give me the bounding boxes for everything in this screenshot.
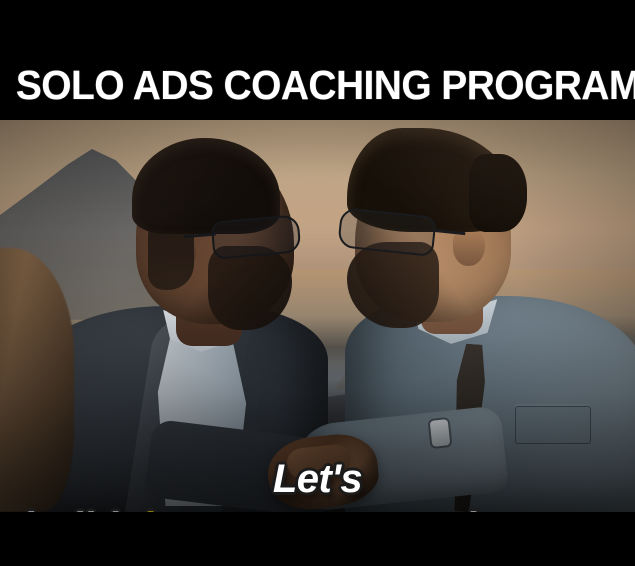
hero-photo: Let's build the success you deserve.	[0, 120, 635, 512]
overlay-headline: Let's build the success you deserve.	[0, 456, 635, 512]
bottom-bar	[0, 512, 635, 566]
overlay-line2-suffix: success you deserve.	[188, 504, 613, 512]
wristwatch-icon	[430, 419, 451, 447]
overlay-line2-highlight: the	[128, 504, 188, 512]
page-title: SOLO ADS COACHING PROGRAM	[16, 63, 619, 107]
ad-creative: Let's build the success you deserve. SOL…	[0, 0, 635, 566]
right-man-shirt-pocket	[515, 406, 591, 444]
overlay-headline-line1: Let's	[0, 456, 635, 502]
glasses-icon	[211, 214, 302, 260]
overlay-line2-prefix: build	[22, 504, 128, 512]
round-glasses-icon	[337, 207, 437, 257]
overlay-headline-line2: build the success you deserve.	[0, 504, 635, 512]
top-banner: SOLO ADS COACHING PROGRAM	[0, 0, 635, 120]
